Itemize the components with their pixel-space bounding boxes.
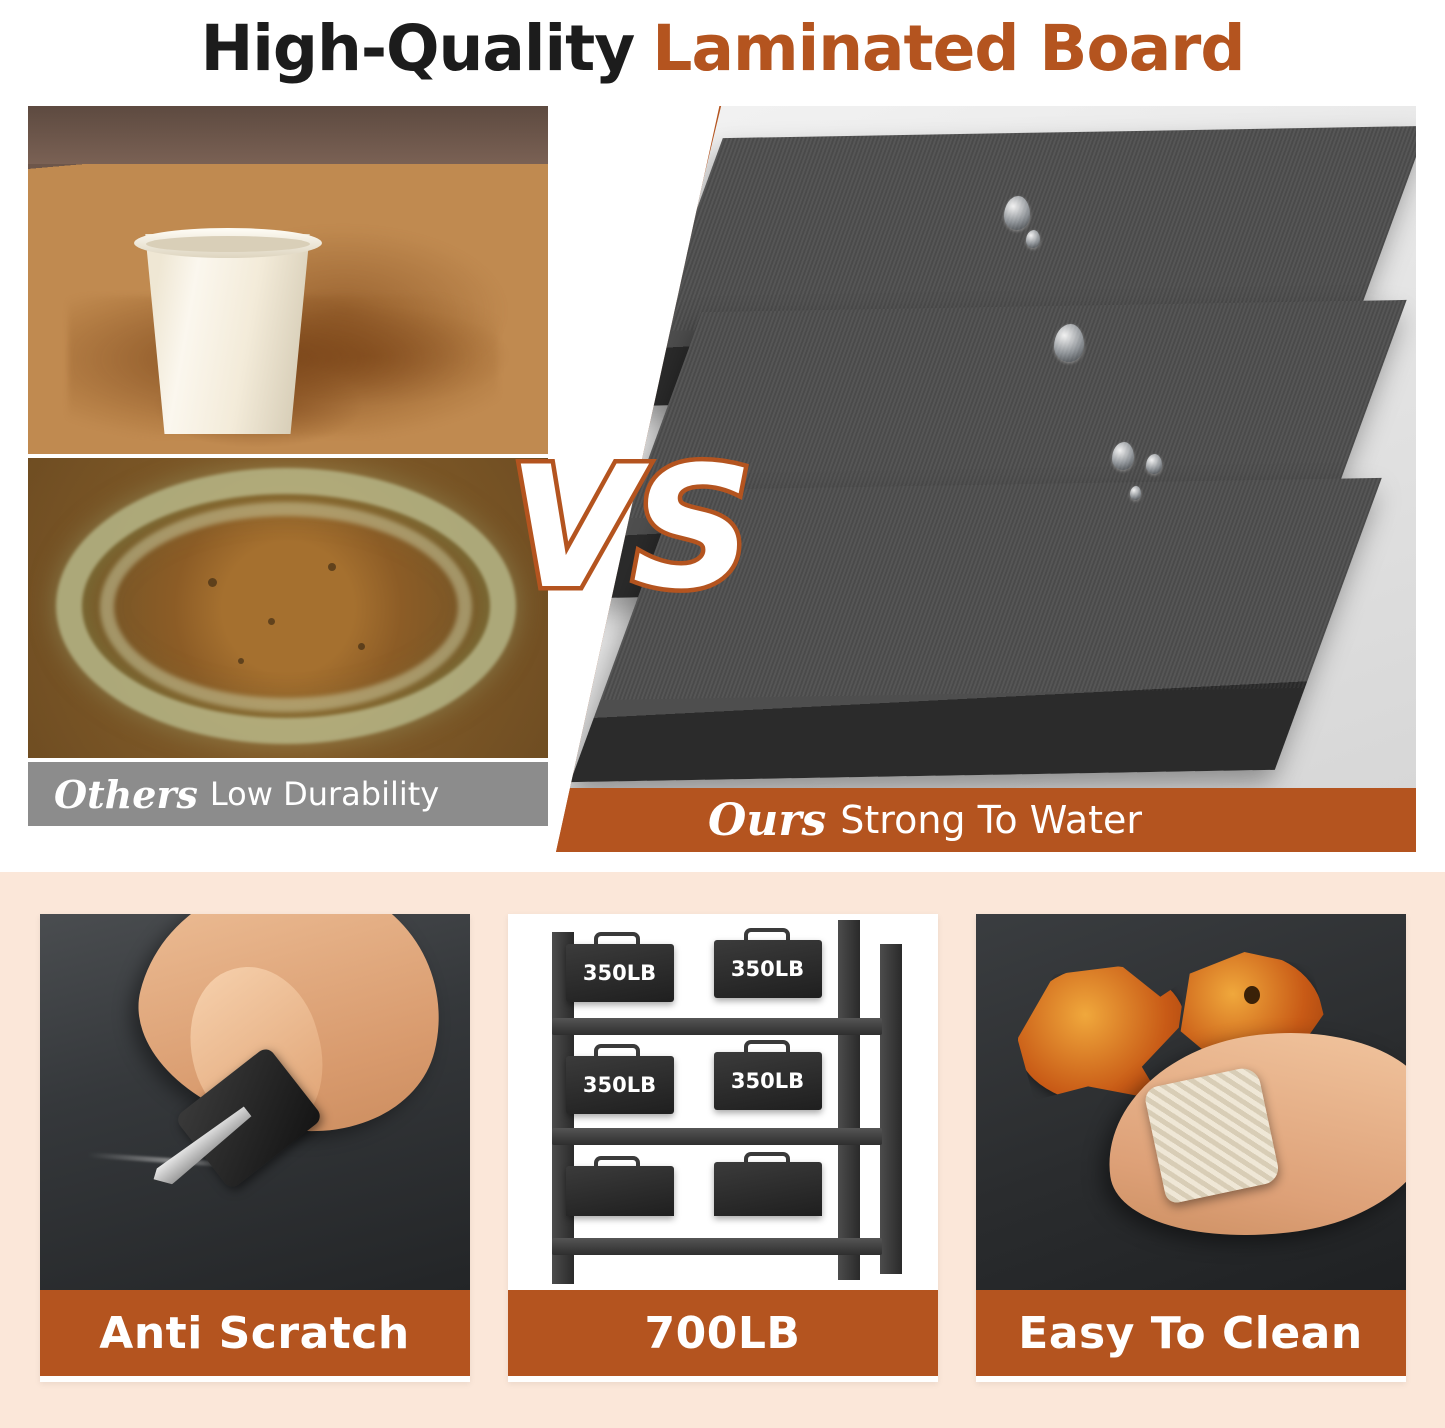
page-title: High-Quality Laminated Board (0, 0, 1445, 92)
water-droplet (1054, 324, 1084, 362)
feature-caption: 700LB (508, 1290, 938, 1376)
shelf-plank (552, 1018, 882, 1035)
vs-badge: VS (508, 444, 747, 612)
load-tag: 350LB (566, 944, 674, 1002)
water-droplet (1004, 196, 1030, 230)
ours-label-text: Strong To Water (840, 798, 1142, 842)
water-droplet (1112, 442, 1134, 470)
paper-cup (140, 234, 315, 434)
feature-caption: Easy To Clean (976, 1290, 1406, 1376)
shelf-post (880, 944, 902, 1274)
others-label-bar: Others Low Durability (28, 762, 548, 826)
mold-speck (208, 578, 217, 587)
shelf-plank (552, 1238, 882, 1255)
comparison-section: Others Low Durability Ours Strong To Wat… (0, 92, 1445, 852)
others-mold-photo (28, 458, 548, 758)
load-tag: 350LB (566, 1056, 674, 1114)
mold-speck (238, 658, 244, 664)
anti-scratch-image (40, 914, 470, 1290)
water-droplet (1130, 486, 1141, 500)
shelf-image: 350LB 350LB 350LB 350LB (508, 914, 938, 1290)
water-droplet (1146, 454, 1162, 474)
mold-ring-inner (100, 502, 472, 712)
others-label-bold: Others (54, 772, 198, 817)
others-panel: Others Low Durability (28, 106, 548, 826)
title-accent: Laminated Board (652, 12, 1244, 85)
cleaning-cloth (1143, 1065, 1281, 1205)
load-tag: 350LB (714, 1052, 822, 1110)
mold-speck (358, 643, 365, 650)
water-droplet (1026, 230, 1040, 248)
easy-clean-image (976, 914, 1406, 1290)
table-edge (28, 106, 548, 164)
feature-card-load-capacity: 350LB 350LB 350LB 350LB 700LB (508, 914, 938, 1382)
feature-caption: Anti Scratch (40, 1290, 470, 1376)
feature-card-easy-clean: Easy To Clean (976, 914, 1406, 1382)
spill-highlight (1244, 986, 1260, 1004)
title-primary: High-Quality (201, 12, 635, 85)
ours-label-bold: Ours (708, 795, 826, 846)
cup-rim-inner (146, 236, 310, 252)
shelf-post (838, 920, 860, 1280)
shelf-plank (552, 1128, 882, 1145)
others-label-text: Low Durability (210, 775, 439, 813)
load-tag-partial (714, 1162, 822, 1216)
feature-cards-section: Anti Scratch 350LB 350LB 350LB (0, 872, 1445, 1428)
mold-speck (268, 618, 275, 625)
mold-speck (328, 563, 336, 571)
ours-label-bar: Ours Strong To Water (556, 788, 1416, 852)
feature-card-anti-scratch: Anti Scratch (40, 914, 470, 1382)
load-tag-partial (566, 1166, 674, 1216)
product-infographic: High-Quality Laminated Board (0, 0, 1445, 1428)
others-spill-photo (28, 106, 548, 454)
load-tag: 350LB (714, 940, 822, 998)
